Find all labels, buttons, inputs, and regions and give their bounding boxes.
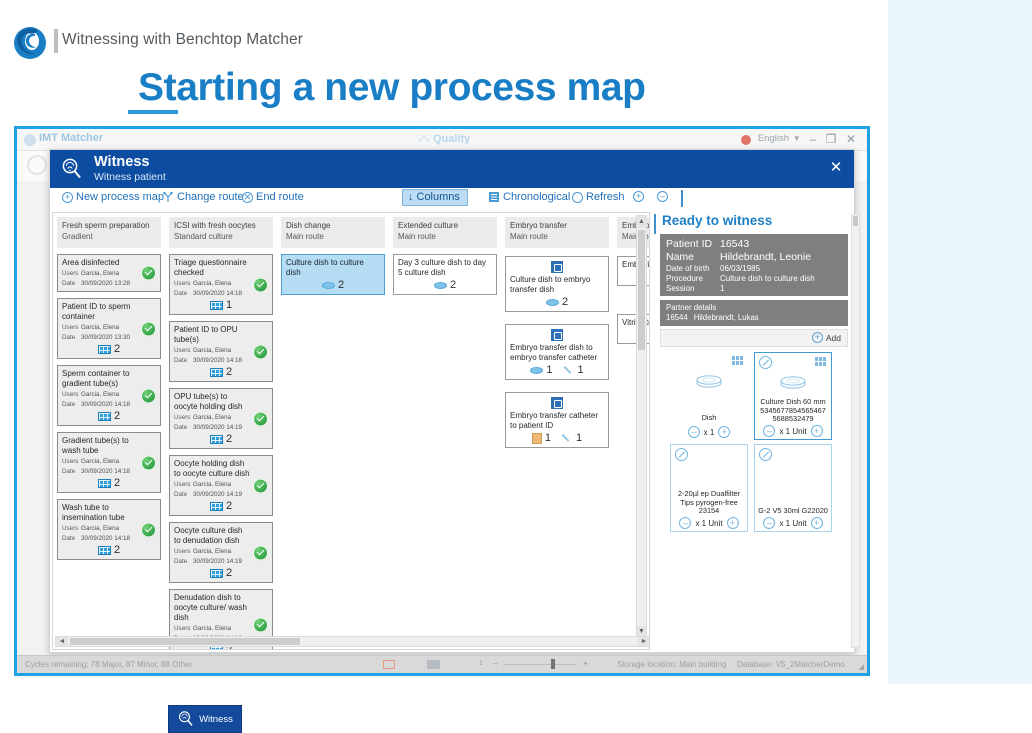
chronological-icon	[488, 191, 500, 203]
scroll-up-arrow-icon[interactable]: ▲	[637, 216, 646, 228]
consumable-label: G-2 V5 30ml G22020	[757, 507, 829, 516]
process-map-column: Extended culture Main route Day 3 cultur…	[393, 217, 497, 295]
check-icon	[141, 455, 156, 470]
language-label[interactable]: English	[758, 133, 789, 144]
procedure-label: Procedure	[666, 274, 720, 284]
cycles-remaining-status: Cycles remaining: 78 Major, 87 Minor, 88…	[25, 660, 192, 669]
scroll-left-arrow-icon[interactable]: ◄	[56, 637, 68, 646]
target-icon	[551, 261, 563, 273]
tube-grid-icon	[98, 345, 111, 354]
process-map-column: Embryo transfer Main route Culture dish …	[505, 217, 609, 448]
node-title: Patient ID to sperm container	[62, 302, 156, 322]
map-horizontal-scrollbar[interactable]: ◄ ►	[55, 636, 650, 647]
consumable-label: Culture Dish 60 mm 5345677854565467 5688…	[757, 398, 829, 424]
increment-button[interactable]: +	[718, 426, 730, 438]
resize-grip-icon[interactable]: ◢	[859, 663, 864, 671]
zoom-in-icon[interactable]: +	[583, 659, 588, 668]
partner-heading: Partner details	[666, 303, 842, 313]
badge-count: 1	[545, 432, 551, 444]
consumable-label: 2-20µl ep Dualfilter Tips pyrogen-free 2…	[673, 490, 745, 516]
partner-name: Hildebrandt, Lukas	[694, 313, 759, 323]
edit-pencil-icon[interactable]	[759, 448, 772, 461]
node-users: Garcia, Elena	[81, 391, 119, 398]
node-users-label: Users	[62, 324, 81, 332]
column-header: Extended culture Main route	[393, 217, 497, 248]
node-title: Denudation dish to oocyte culture/ wash …	[174, 593, 268, 623]
tube-grid-icon	[210, 435, 223, 444]
decrement-button[interactable]: –	[763, 425, 775, 437]
header-divider	[54, 29, 58, 53]
company-logo-icon	[10, 22, 50, 62]
node-date: 30/09/2020 14:18	[81, 401, 130, 408]
node-date-label: Date	[174, 491, 193, 499]
petri-dish-icon	[776, 375, 810, 391]
patient-id-label: Patient ID	[666, 238, 720, 251]
badge-count: 1	[546, 364, 552, 376]
process-map-area[interactable]: Fresh sperm preparation Gradient Area di…	[52, 212, 650, 650]
node-users: Garcia, Elena	[81, 525, 119, 532]
dob-value: 06/03/1985	[720, 264, 842, 274]
app-search-icon[interactable]	[27, 155, 47, 175]
decrement-button[interactable]: –	[688, 426, 700, 438]
node-title: Wash tube to insemination tube	[62, 503, 156, 523]
add-consumable-row[interactable]: + Add	[660, 329, 848, 347]
check-icon	[253, 277, 268, 292]
patient-name-label: Name	[666, 251, 720, 264]
column-subtitle: Main route	[286, 232, 380, 243]
node-users: Garcia, Elena	[81, 270, 119, 277]
column-title: Extended culture	[398, 221, 492, 232]
process-node[interactable]: Sperm container to gradient tube(s) User…	[57, 365, 161, 426]
node-date-label: Date	[174, 558, 193, 566]
node-users-label: Users	[62, 525, 81, 533]
node-date: 30/09/2020 13:28	[81, 280, 130, 287]
plus-circle-icon: +	[62, 192, 73, 203]
node-users-label: Users	[174, 347, 193, 355]
close-dialog-button[interactable]: ✕	[826, 158, 846, 178]
node-date: 30/09/2020 14:18	[193, 290, 242, 297]
barcode-grid-icon	[814, 356, 827, 367]
process-map-column: Fresh sperm preparation Gradient Area di…	[57, 217, 161, 560]
straw-icon	[532, 433, 542, 444]
title-underline	[128, 110, 178, 114]
node-title: Embryo transfer dish to embryo transfer …	[510, 343, 604, 363]
app-brand-label: IMT Matcher	[39, 132, 103, 144]
card-reader-icon[interactable]	[427, 660, 440, 669]
process-node-selected[interactable]: Culture dish to culture dish 2	[281, 254, 385, 295]
maximize-button[interactable]: ❐	[823, 132, 839, 146]
check-icon	[253, 344, 268, 359]
slide-side-panel	[888, 0, 1032, 684]
column-title: Dish change	[286, 221, 380, 232]
cross-circle-icon: ✕	[242, 192, 253, 203]
increment-button[interactable]: +	[727, 517, 739, 529]
tube-grid-icon	[98, 412, 111, 421]
node-date-label: Date	[174, 424, 193, 432]
app-logo-icon	[23, 133, 37, 147]
node-date-label: Date	[62, 334, 81, 342]
node-users-label: Users	[174, 481, 193, 489]
check-icon	[141, 321, 156, 336]
node-date-label: Date	[62, 535, 81, 543]
check-icon	[141, 522, 156, 537]
column-header: ICSI with fresh oocytes Standard culture	[169, 217, 273, 248]
badge-count: 2	[562, 296, 568, 308]
refresh-icon	[572, 192, 583, 203]
ready-to-witness-panel: Ready to witness Patient ID 16543 Name H…	[654, 212, 854, 650]
process-node[interactable]: Day 3 culture dish to day 5 culture dish…	[393, 254, 497, 295]
consumable-qty: x 1 Unit	[695, 519, 722, 528]
node-date-label: Date	[174, 357, 193, 365]
slide-header: Witnessing with Benchtop Matcher Startin…	[0, 0, 1032, 128]
check-icon	[253, 617, 268, 632]
node-date-label: Date	[62, 280, 81, 288]
node-users: Garcia, Elena	[193, 481, 231, 488]
process-node[interactable]: Embryo transfer dish to embryo transfer …	[505, 324, 609, 380]
database-status: Database: V5_2MatcherDemo	[737, 660, 845, 669]
dish-icon	[546, 299, 559, 306]
node-users: Garcia, Elena	[193, 414, 231, 421]
node-title: Sperm container to gradient tube(s)	[62, 369, 156, 389]
node-users-label: Users	[62, 270, 81, 278]
consumable-card-tips[interactable]: 2-20µl ep Dualfilter Tips pyrogen-free 2…	[670, 444, 748, 532]
storage-location-status: Storage location: Main building	[617, 660, 726, 669]
dialog-toolbar: + New process map Change route ✕ End rou…	[50, 188, 854, 212]
process-node[interactable]: Area disinfected UsersGarcia, Elena Date…	[57, 254, 161, 292]
badge-count: 2	[338, 279, 344, 291]
zoom-slider-thumb[interactable]	[551, 659, 555, 669]
tube-grid-icon	[98, 546, 111, 555]
toolbar-divider	[681, 190, 683, 207]
tube-grid-icon	[210, 368, 223, 377]
badge-count: 1	[578, 364, 584, 376]
node-users: Garcia, Elena	[81, 458, 119, 465]
node-title: Culture dish to embryo transfer dish	[510, 275, 604, 295]
node-users-label: Users	[174, 414, 193, 422]
node-users-label: Users	[62, 458, 81, 466]
scrollbar-thumb[interactable]	[70, 638, 300, 645]
node-title: Patient ID to OPU tube(s)	[174, 325, 268, 345]
node-date: 30/09/2020 13:30	[81, 334, 130, 341]
node-title: Culture dish to culture dish	[286, 258, 380, 278]
badge-count: 2	[226, 567, 232, 579]
process-node[interactable]: Embryo transfer catheter to patient ID 1…	[505, 392, 609, 448]
badge-count: 2	[114, 343, 120, 355]
change-route-label: Change route	[177, 191, 244, 203]
node-title: Embryo transfer catheter to patient ID	[510, 411, 604, 431]
scrollbar-thumb[interactable]	[853, 216, 858, 226]
close-window-button[interactable]: ✕	[843, 132, 859, 146]
node-date: 30/09/2020 14:19	[193, 558, 242, 565]
consumable-card-medium[interactable]: G-2 V5 30ml G22020 – x 1 Unit +	[754, 444, 832, 532]
node-title: Day 3 culture dish to day 5 culture dish	[398, 258, 492, 278]
badge-count: 2	[450, 279, 456, 291]
node-title: Area disinfected	[62, 258, 156, 268]
process-node[interactable]: Patient ID to OPU tube(s) UsersGarcia, E…	[169, 321, 273, 382]
quality-cluster-icon	[417, 134, 431, 144]
column-header: Dish change Main route	[281, 217, 385, 248]
dish-icon	[322, 282, 335, 289]
app-titlebar: IMT Matcher Quality English ▾ – ❐ ✕	[17, 129, 867, 151]
process-map-column: ICSI with fresh oocytes Standard culture…	[169, 217, 273, 650]
plus-circle-icon: +	[812, 332, 823, 343]
zoom-in-button[interactable]: +	[633, 191, 644, 202]
node-date: 30/09/2020 14:18	[81, 468, 130, 475]
new-process-map-label: New process map	[76, 191, 164, 203]
node-users-label: Users	[62, 391, 81, 399]
badge-count: 2	[226, 366, 232, 378]
column-title: ICSI with fresh oocytes	[174, 221, 268, 232]
chevron-down-icon[interactable]: ▾	[794, 133, 799, 144]
process-node[interactable]: Patient ID to sperm container UsersGarci…	[57, 298, 161, 359]
witness-button-label: Witness	[199, 714, 233, 725]
scrollbar-thumb[interactable]	[638, 230, 645, 350]
arrow-down-icon: ↓	[408, 191, 414, 203]
columns-label: Columns	[417, 191, 460, 203]
node-date-label: Date	[62, 401, 81, 409]
consumable-qty: x 1 Unit	[779, 519, 806, 528]
node-users-label: Users	[174, 280, 193, 288]
header-subtitle: Witnessing with Benchtop Matcher	[62, 31, 303, 49]
session-label: Session	[666, 284, 720, 294]
node-date-label: Date	[174, 290, 193, 298]
node-users: Garcia, Elena	[193, 625, 231, 632]
column-header: Fresh sperm preparation Gradient	[57, 217, 161, 248]
minimize-button[interactable]: –	[805, 132, 821, 146]
folder-icon[interactable]	[383, 660, 395, 669]
refresh-button[interactable]: Refresh	[572, 191, 625, 203]
badge-count: 1	[226, 299, 232, 311]
zoom-out-button[interactable]: –	[657, 191, 668, 202]
dialog-subtitle: Witness patient	[94, 171, 166, 183]
fingerprint-magnifier-icon	[60, 157, 84, 181]
quality-label: Quality	[433, 133, 470, 145]
pen-icon	[562, 433, 573, 444]
zoom-slider[interactable]	[503, 664, 577, 665]
matcher-application-window: IMT Matcher Quality English ▾ – ❐ ✕ Witn…	[14, 126, 870, 676]
node-date: 30/09/2020 14:19	[193, 491, 242, 498]
node-date: 30/09/2020 14:19	[193, 424, 242, 431]
chronological-toggle-button[interactable]: Chronological	[488, 191, 570, 203]
page-title: Starting a new process map	[138, 66, 646, 110]
consumable-qty: x 1 Unit	[779, 427, 806, 436]
columns-toggle-button[interactable]: ↓ Columns	[402, 189, 468, 206]
column-header: Embryo transfer Main route	[505, 217, 609, 248]
node-users-label: Users	[174, 625, 193, 633]
edit-pencil-icon[interactable]	[675, 448, 688, 461]
node-title: Triage questionnaire checked	[174, 258, 268, 278]
increment-button[interactable]: +	[811, 425, 823, 437]
check-icon	[141, 266, 156, 281]
column-title: Embryo transfer	[510, 221, 604, 232]
tube-grid-icon	[210, 301, 223, 310]
node-users: Garcia, Elena	[193, 548, 231, 555]
node-date: 30/09/2020 14:18	[193, 357, 242, 364]
zoom-out-icon[interactable]: –	[493, 659, 497, 668]
process-node[interactable]: Oocyte culture dish to denudation dish U…	[169, 522, 273, 583]
refresh-label: Refresh	[586, 191, 625, 203]
column-subtitle: Standard culture	[174, 232, 268, 243]
barcode-grid-icon	[731, 355, 744, 366]
column-title: Fresh sperm preparation	[62, 221, 156, 232]
language-flag-icon[interactable]	[741, 135, 751, 145]
route-branch-icon	[162, 191, 174, 203]
consumable-qty: x 1	[704, 428, 715, 437]
dialog-header: Witness Witness patient ✕	[50, 150, 854, 188]
tube-grid-icon	[210, 569, 223, 578]
witness-dialog: Witness Witness patient ✕ + New process …	[49, 149, 855, 653]
node-users-label: Users	[174, 548, 193, 556]
process-node[interactable]: Gradient tube(s) to wash tube UsersGarci…	[57, 432, 161, 493]
consumable-card-dish[interactable]: Dish – x 1 +	[670, 352, 748, 440]
column-subtitle: Gradient	[62, 232, 156, 243]
petri-dish-icon	[692, 374, 726, 390]
add-button[interactable]: + Add	[812, 332, 841, 343]
pen-icon	[564, 365, 575, 376]
patient-id-value: 16543	[720, 238, 842, 251]
process-node[interactable]: Oocyte holding dish to oocyte culture di…	[169, 455, 273, 516]
badge-count: 2	[226, 433, 232, 445]
zoom-in-icon: +	[633, 191, 644, 202]
badge-count: 2	[114, 410, 120, 422]
node-users: Garcia, Elena	[81, 324, 119, 331]
target-icon	[551, 329, 563, 341]
target-icon	[551, 397, 563, 409]
node-users: Garcia, Elena	[193, 347, 231, 354]
page-indicator: 1	[479, 660, 483, 667]
check-icon	[141, 388, 156, 403]
fingerprint-magnifier-icon	[177, 710, 195, 728]
node-date-label: Date	[62, 468, 81, 476]
panel-title: Ready to witness	[662, 213, 772, 228]
increment-button[interactable]: +	[811, 517, 823, 529]
patient-details-card: Patient ID 16543 Name Hildebrandt, Leoni…	[660, 234, 848, 296]
process-node[interactable]: Culture dish to embryo transfer dish 2	[505, 256, 609, 312]
panel-accent-bar	[654, 214, 656, 234]
edit-pencil-icon[interactable]	[759, 356, 772, 369]
panel-vertical-scrollbar[interactable]	[851, 214, 860, 648]
scroll-right-arrow-icon[interactable]: ►	[638, 637, 650, 646]
decrement-button[interactable]: –	[679, 517, 691, 529]
node-users: Garcia, Elena	[193, 280, 231, 287]
session-value: 1	[720, 284, 842, 294]
end-route-label: End route	[256, 191, 304, 203]
consumable-card-culture-dish[interactable]: Culture Dish 60 mm 5345677854565467 5688…	[754, 352, 832, 440]
app-status-bar: Cycles remaining: 78 Major, 87 Minor, 88…	[17, 655, 867, 673]
add-label: Add	[826, 333, 841, 343]
node-title: Gradient tube(s) to wash tube	[62, 436, 156, 456]
zoom-out-icon: –	[657, 191, 668, 202]
process-node[interactable]: OPU tube(s) to oocyte holding dish Users…	[169, 388, 273, 449]
patient-name-value: Hildebrandt, Leonie	[720, 251, 842, 264]
badge-count: 2	[114, 544, 120, 556]
node-title: Oocyte culture dish to denudation dish	[174, 526, 268, 546]
witness-button[interactable]: Witness	[168, 705, 242, 733]
column-subtitle: Main route	[398, 232, 492, 243]
badge-count: 2	[114, 477, 120, 489]
node-date: 30/09/2020 14:18	[81, 535, 130, 542]
node-title: Oocyte holding dish to oocyte culture di…	[174, 459, 268, 479]
badge-count: 2	[226, 500, 232, 512]
dialog-title: Witness	[94, 154, 149, 170]
chronological-label: Chronological	[503, 191, 570, 203]
process-node[interactable]: Triage questionnaire checked UsersGarcia…	[169, 254, 273, 315]
dish-icon	[434, 282, 447, 289]
tube-grid-icon	[98, 479, 111, 488]
check-icon	[253, 545, 268, 560]
map-vertical-scrollbar[interactable]: ▲ ▼	[636, 215, 647, 639]
partner-id: 16544	[666, 313, 688, 323]
process-node[interactable]: Wash tube to insemination tube UsersGarc…	[57, 499, 161, 560]
check-icon	[253, 411, 268, 426]
check-icon	[253, 478, 268, 493]
end-route-button[interactable]: ✕ End route	[242, 191, 304, 203]
decrement-button[interactable]: –	[763, 517, 775, 529]
consumable-label: Dish	[672, 414, 746, 423]
column-subtitle: Main route	[510, 232, 604, 243]
tube-grid-icon	[210, 502, 223, 511]
change-route-button[interactable]: Change route	[162, 191, 244, 203]
dob-label: Date of birth	[666, 264, 720, 274]
procedure-value: Culture dish to culture dish	[720, 274, 842, 284]
partner-details-card: Partner details 16544 Hildebrandt, Lukas	[660, 300, 848, 326]
process-map-column: Dish change Main route Culture dish to c…	[281, 217, 385, 295]
new-process-map-button[interactable]: + New process map	[62, 191, 164, 203]
node-title: OPU tube(s) to oocyte holding dish	[174, 392, 268, 412]
dish-icon	[530, 367, 543, 374]
badge-count: 1	[576, 432, 582, 444]
